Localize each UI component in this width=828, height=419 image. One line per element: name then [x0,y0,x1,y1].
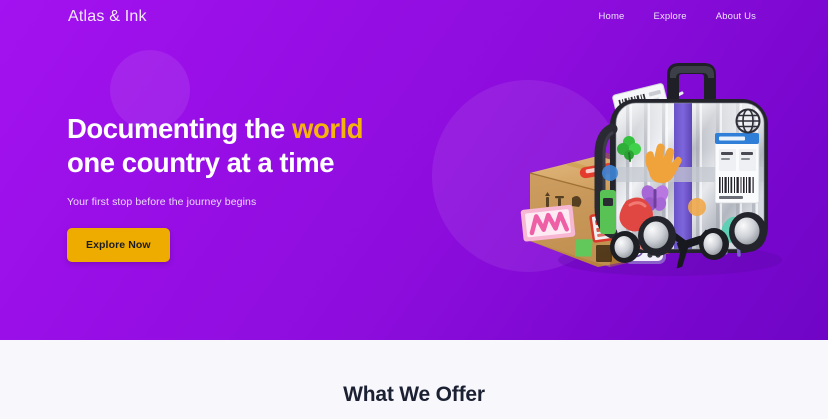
hero-headline-lead: Documenting the [67,113,292,144]
hero-headline-line2: one country at a time [67,147,334,178]
sticker-green-rect [600,190,616,234]
baggage-label [715,133,759,203]
hero-section: Atlas & Ink Home Explore About Us Docume… [0,0,828,340]
main-navigation: Atlas & Ink Home Explore About Us [0,0,828,35]
hero-copy: Documenting the world one country at a t… [67,112,487,262]
hero-subheadline: Your first stop before the journey begin… [67,196,487,208]
nav-link-about-us[interactable]: About Us [716,11,756,22]
nav-link-explore[interactable]: Explore [653,11,686,22]
hero-illustration [520,55,810,290]
nav-link-home[interactable]: Home [599,11,625,22]
brand-logo[interactable]: Atlas & Ink [68,8,147,26]
landing-page: Atlas & Ink Home Explore About Us Docume… [0,0,828,419]
offer-section: What We Offer [0,340,828,419]
nav-links: Home Explore About Us [599,11,757,22]
hero-headline-line1: Documenting the world [67,113,363,144]
hero-headline-accent: world [292,113,363,144]
sticker-orange-dot [688,198,706,216]
offer-section-title: What We Offer [0,383,828,407]
explore-now-button[interactable]: Explore Now [67,228,170,262]
sticker-blue-dot [602,165,618,181]
hero-headline: Documenting the world one country at a t… [67,112,487,179]
